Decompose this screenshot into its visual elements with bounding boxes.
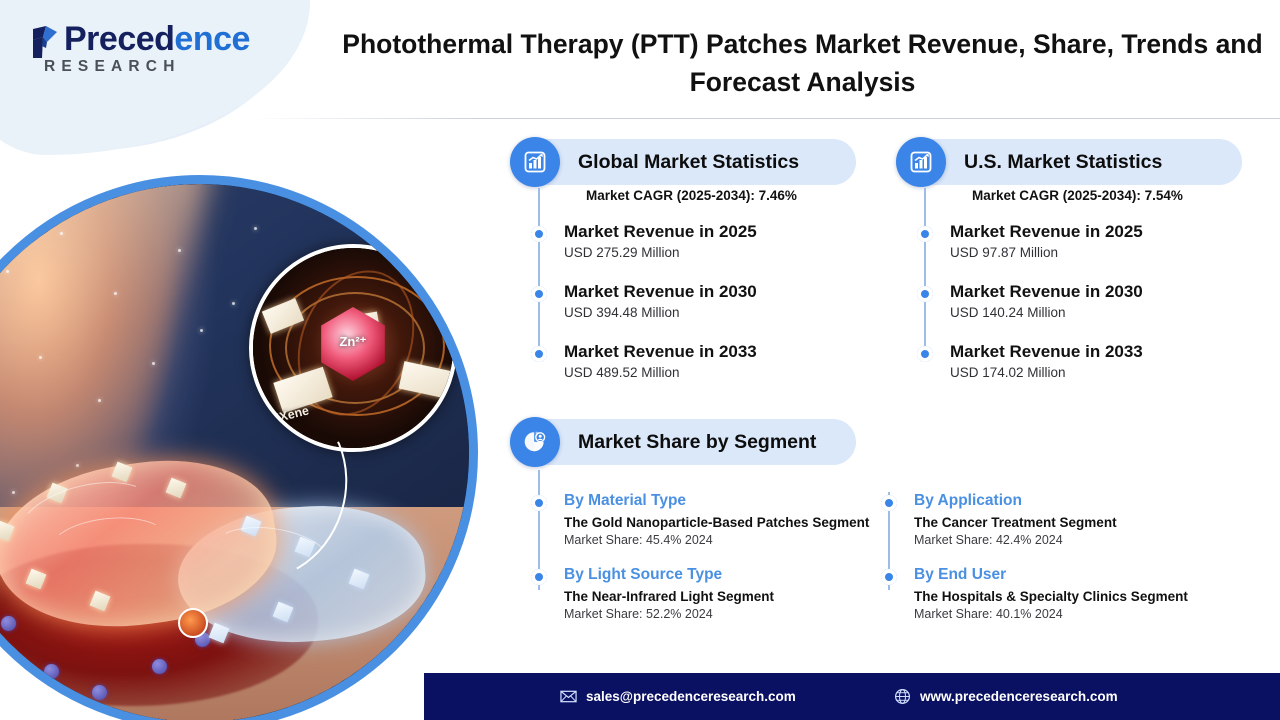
bar-chart-growth-icon bbox=[896, 137, 946, 187]
segments-left-column: By Material Type The Gold Nanoparticle-B… bbox=[528, 470, 873, 650]
us-stats-heading: U.S. Market Statistics bbox=[964, 151, 1162, 174]
segment-title: By Material Type bbox=[564, 492, 873, 511]
segment-share: Market Share: 40.1% 2024 bbox=[914, 607, 1233, 623]
us-cagr-row: Market CAGR (2025-2034): 7.54% bbox=[914, 188, 1244, 222]
brand-logo[interactable]: Precedence RESEARCH bbox=[24, 22, 274, 84]
stat-label: Market Revenue in 2030 bbox=[950, 282, 1244, 302]
segment-item-material-type[interactable]: By Material Type The Gold Nanoparticle-B… bbox=[528, 470, 873, 560]
segment-leader: The Hospitals & Specialty Clinics Segmen… bbox=[914, 588, 1233, 606]
global-stat-item[interactable]: Market Revenue in 2033 USD 489.52 Millio… bbox=[528, 342, 858, 402]
segment-title: By Application bbox=[914, 492, 1233, 511]
footer-email-text: sales@precedenceresearch.com bbox=[586, 689, 796, 704]
infographic-page: Precedence RESEARCH Photothermal Therapy… bbox=[0, 0, 1280, 720]
footer-bar: sales@precedenceresearch.com www.precede… bbox=[424, 673, 1280, 720]
stat-value: USD 489.52 Million bbox=[564, 365, 858, 382]
segments-header: Market Share by Segment bbox=[512, 419, 856, 465]
footer-email[interactable]: sales@precedenceresearch.com bbox=[560, 688, 796, 705]
us-stat-item[interactable]: Market Revenue in 2025 USD 97.87 Million bbox=[914, 222, 1244, 282]
virus-particle bbox=[152, 659, 167, 674]
timeline-dot-icon bbox=[917, 346, 933, 362]
segment-title: By Light Source Type bbox=[564, 566, 873, 585]
stat-label: Market Revenue in 2030 bbox=[564, 282, 858, 302]
timeline-dot-icon bbox=[531, 569, 547, 585]
stat-label: Market Revenue in 2033 bbox=[564, 342, 858, 362]
us-stat-item[interactable]: Market Revenue in 2030 USD 140.24 Millio… bbox=[914, 282, 1244, 342]
global-stats-heading: Global Market Statistics bbox=[578, 151, 799, 174]
segment-leader: The Cancer Treatment Segment bbox=[914, 514, 1233, 532]
segment-title: By End User bbox=[914, 566, 1233, 585]
brand-wordmark: Precedence bbox=[64, 20, 250, 59]
global-cagr-row: Market CAGR (2025-2034): 7.46% bbox=[528, 188, 858, 222]
stat-value: USD 394.48 Million bbox=[564, 305, 858, 322]
global-stat-item[interactable]: Market Revenue in 2030 USD 394.48 Millio… bbox=[528, 282, 858, 342]
bar-chart-growth-icon bbox=[510, 137, 560, 187]
stat-label: Market Revenue in 2033 bbox=[950, 342, 1244, 362]
global-stat-item[interactable]: Market Revenue in 2025 USD 275.29 Millio… bbox=[528, 222, 858, 282]
timeline-dot-icon bbox=[917, 286, 933, 302]
us-stats-header: U.S. Market Statistics bbox=[898, 139, 1242, 185]
segment-item-light-source-type[interactable]: By Light Source Type The Near-Infrared L… bbox=[528, 560, 873, 630]
footer-website-text: www.precedenceresearch.com bbox=[920, 689, 1118, 704]
timeline-dot-icon bbox=[881, 569, 897, 585]
timeline-dot-icon bbox=[531, 286, 547, 302]
header-divider bbox=[250, 118, 1280, 119]
envelope-icon bbox=[560, 688, 577, 705]
stat-label: Market Revenue in 2025 bbox=[950, 222, 1244, 242]
segment-share: Market Share: 45.4% 2024 bbox=[564, 533, 873, 549]
virus-particle bbox=[44, 664, 59, 679]
footer-website[interactable]: www.precedenceresearch.com bbox=[894, 688, 1118, 705]
segment-leader: The Gold Nanoparticle-Based Patches Segm… bbox=[564, 514, 873, 532]
page-title: Photothermal Therapy (PTT) Patches Marke… bbox=[330, 26, 1275, 101]
segments-right-column: By Application The Cancer Treatment Segm… bbox=[878, 470, 1233, 650]
pie-chart-search-icon bbox=[510, 417, 560, 467]
timeline-dot-icon bbox=[881, 495, 897, 511]
segments-heading: Market Share by Segment bbox=[578, 431, 816, 454]
us-stats-timeline: Market CAGR (2025-2034): 7.54% Market Re… bbox=[914, 188, 1244, 388]
segment-share: Market Share: 42.4% 2024 bbox=[914, 533, 1233, 549]
globe-icon bbox=[894, 688, 911, 705]
timeline-dot-icon bbox=[531, 495, 547, 511]
us-stat-item[interactable]: Market Revenue in 2033 USD 174.02 Millio… bbox=[914, 342, 1244, 402]
stat-value: USD 97.87 Million bbox=[950, 245, 1244, 262]
stat-label: Market Revenue in 2025 bbox=[564, 222, 858, 242]
stat-value: USD 174.02 Million bbox=[950, 365, 1244, 382]
stat-value: USD 140.24 Million bbox=[950, 305, 1244, 322]
timeline-dot-icon bbox=[531, 226, 547, 242]
timeline-dot-icon bbox=[917, 226, 933, 242]
us-cagr-text: Market CAGR (2025-2034): 7.54% bbox=[972, 188, 1244, 203]
segment-item-end-user[interactable]: By End User The Hospitals & Specialty Cl… bbox=[878, 560, 1233, 630]
global-stats-header: Global Market Statistics bbox=[512, 139, 856, 185]
segment-share: Market Share: 52.2% 2024 bbox=[564, 607, 873, 623]
stat-value: USD 275.29 Million bbox=[564, 245, 858, 262]
brand-name-part2: ence bbox=[174, 20, 250, 58]
callout-focus-point bbox=[178, 608, 208, 638]
virus-particle bbox=[1, 616, 16, 631]
timeline-dot-icon bbox=[531, 346, 547, 362]
brand-subtitle: RESEARCH bbox=[44, 58, 181, 76]
global-cagr-text: Market CAGR (2025-2034): 7.46% bbox=[586, 188, 858, 203]
segment-item-application[interactable]: By Application The Cancer Treatment Segm… bbox=[878, 470, 1233, 560]
global-stats-timeline: Market CAGR (2025-2034): 7.46% Market Re… bbox=[528, 188, 858, 388]
segment-leader: The Near-Infrared Light Segment bbox=[564, 588, 873, 606]
brand-name-part1: Preced bbox=[64, 20, 174, 58]
zinc-ion-label: Zn²⁺ bbox=[339, 334, 366, 350]
